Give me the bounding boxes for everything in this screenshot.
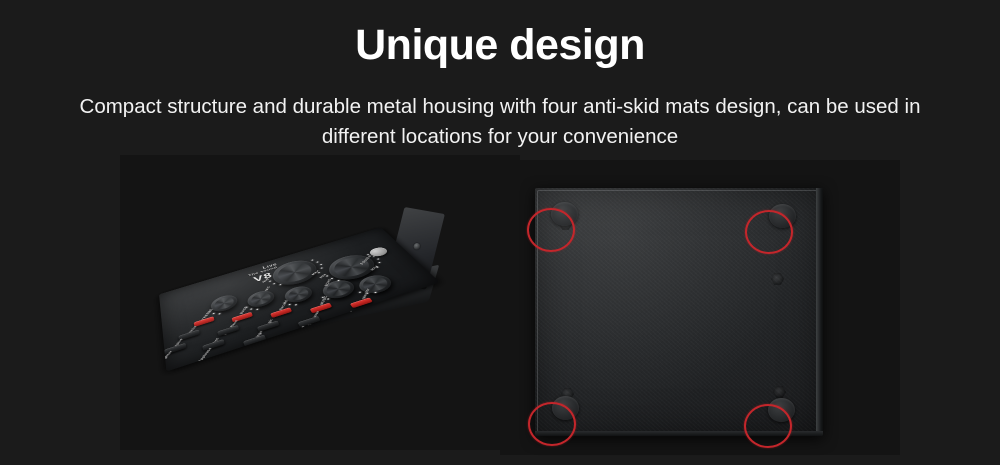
pad-magic[interactable] (270, 307, 292, 318)
highlight-ring-top-left (527, 208, 575, 252)
side-screw-icon (413, 243, 421, 251)
pad-label-awkward: Awkward (281, 340, 295, 355)
product-photo-bottom-view (500, 160, 900, 455)
pad-time[interactable] (369, 320, 394, 332)
pad-label-minions: Minions (326, 335, 338, 348)
product-photo-top-view: Live The sound V8 (120, 155, 520, 450)
pad-label-time: Time (371, 333, 380, 341)
knob-bass[interactable] (245, 288, 277, 310)
pad-shock-wave[interactable] (310, 303, 333, 314)
standoff-screw-icon (771, 273, 784, 285)
knob-treble[interactable] (209, 293, 239, 315)
pad-awkward[interactable] (285, 330, 309, 342)
page-subtitle: Compact structure and durable metal hous… (55, 92, 945, 152)
product-feature-panel: Unique design Compact structure and dura… (0, 0, 1000, 465)
pad-minions[interactable] (327, 325, 351, 337)
pad-label-songs: Songs (337, 322, 347, 332)
highlight-ring-bottom-left (528, 402, 576, 446)
pad-label-kiss: Kiss (240, 347, 249, 354)
standoff-screw-icon (561, 388, 574, 400)
highlight-ring-top-right (745, 210, 793, 254)
page-title: Unique design (0, 20, 1000, 70)
plate-right-edge (816, 188, 823, 436)
sound-card-device: Live The sound V8 (136, 146, 474, 419)
pad-label-laughter: Laughter (159, 350, 173, 364)
pad-label-dogbarking: DogBarking (377, 314, 390, 332)
pad-kiss[interactable] (243, 335, 266, 347)
standoff-screw-icon (773, 386, 786, 398)
knob-label-mic: MIC (264, 286, 271, 291)
highlight-ring-bottom-right (744, 404, 792, 448)
